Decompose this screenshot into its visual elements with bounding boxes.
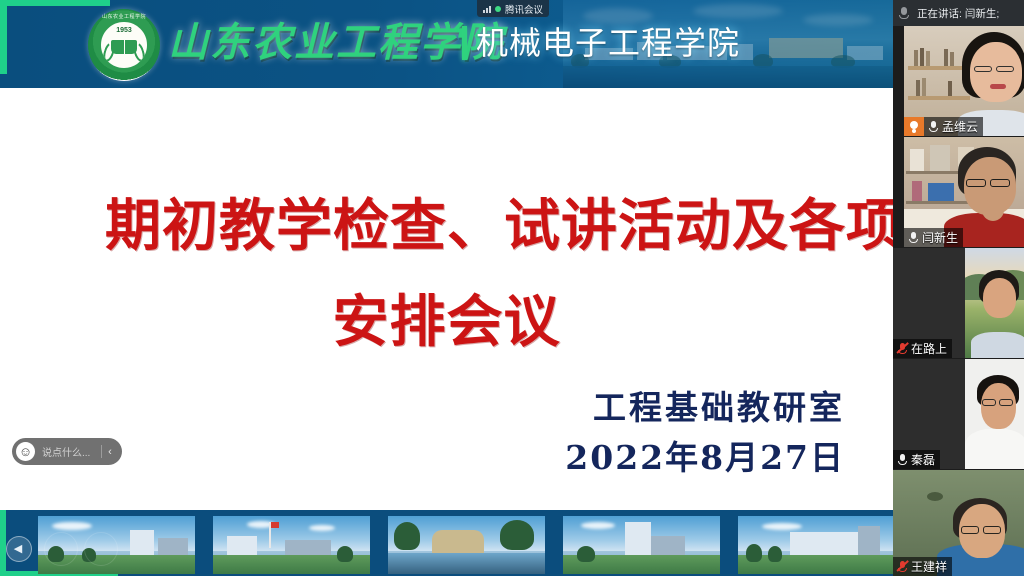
- participant-nameplate: 王建祥: [893, 557, 952, 576]
- slide-filmstrip[interactable]: ◀: [0, 510, 893, 576]
- slide-subtitle-department: 工程基础教研室: [593, 386, 845, 430]
- meeting-status-pill: 腾讯会议: [477, 0, 549, 17]
- university-seal-icon: 山东农业工程学院 1953: [88, 9, 160, 81]
- college-name: 机械电子工程学院: [476, 22, 740, 64]
- filmstrip-prev-button[interactable]: ◀: [6, 536, 32, 562]
- filmstrip-thumbnail[interactable]: [388, 516, 545, 574]
- slide-title-line2: 安排会议: [0, 274, 893, 370]
- chat-input-placeholder[interactable]: 说点什么...: [35, 444, 101, 459]
- meeting-screen: 山东农业工程学院 1953 山东农业工程学院 机械电子工程学院 期初教学检查、试…: [0, 0, 1024, 576]
- meeting-app-label: 腾讯会议: [505, 2, 543, 16]
- participant-tile[interactable]: 秦磊: [893, 359, 1024, 469]
- signal-icon: [483, 5, 491, 13]
- speaking-indicator-bar: 正在讲话: 闫新生;: [893, 0, 1024, 26]
- slide-banner: 山东农业工程学院 1953 山东农业工程学院 机械电子工程学院: [0, 0, 893, 88]
- microphone-icon: [896, 453, 908, 466]
- participant-nameplate: 孟维云: [924, 117, 983, 136]
- host-badge-icon: [904, 117, 924, 136]
- participant-name: 孟维云: [939, 118, 978, 135]
- participant-nameplate: 在路上: [893, 339, 952, 358]
- microphone-muted-icon: [896, 342, 908, 355]
- status-dot: [495, 6, 501, 12]
- shared-screen-area[interactable]: 山东农业工程学院 1953 山东农业工程学院 机械电子工程学院 期初教学检查、试…: [0, 0, 893, 576]
- participant-name: 秦磊: [908, 451, 935, 468]
- participant-tile[interactable]: 王建祥: [893, 470, 1024, 576]
- participant-tile[interactable]: 在路上: [893, 248, 1024, 358]
- filmstrip-prev-label: ◀: [14, 544, 22, 555]
- participant-sidebar[interactable]: 正在讲话: 闫新生; 孟维云: [893, 0, 1024, 576]
- chevron-left-icon[interactable]: ‹: [102, 446, 118, 458]
- filmstrip-thumbnail[interactable]: [738, 516, 893, 574]
- filmstrip-thumbnail[interactable]: [563, 516, 720, 574]
- participant-nameplate: 秦磊: [893, 450, 940, 469]
- filmstrip-thumbnail[interactable]: [213, 516, 370, 574]
- microphone-muted-icon: [896, 560, 908, 573]
- smiley-icon[interactable]: ☺: [16, 442, 35, 461]
- slide-title-line1: 期初教学检查、试讲活动及各项工作: [0, 178, 893, 274]
- microphone-icon: [907, 231, 919, 244]
- speaking-indicator-text: 正在讲话: 闫新生;: [911, 6, 999, 21]
- participant-name: 王建祥: [908, 558, 947, 575]
- slide-body: 期初教学检查、试讲活动及各项工作 安排会议 工程基础教研室 2022年8月27日: [0, 88, 893, 506]
- university-name: 山东农业工程学院: [168, 12, 504, 74]
- seal-year: 1953: [101, 27, 147, 34]
- participant-tile[interactable]: 闫新生: [904, 137, 1024, 247]
- seal-ring-top-text: 山东农业工程学院: [88, 13, 160, 20]
- participant-name: 在路上: [908, 340, 947, 357]
- microphone-icon: [927, 120, 939, 133]
- banner-divider: [462, 26, 467, 60]
- microphone-icon: [897, 6, 911, 20]
- participant-nameplate: 闫新生: [904, 228, 963, 247]
- chat-input-bar[interactable]: ☺ 说点什么... ‹: [12, 438, 122, 465]
- slide-subtitle-date: 2022年8月27日: [565, 436, 845, 480]
- banner-accent-left: [0, 0, 7, 74]
- participant-name: 闫新生: [919, 229, 958, 246]
- filmstrip-track: [38, 516, 893, 576]
- banner-accent-top: [0, 0, 110, 6]
- participant-tile[interactable]: 孟维云: [904, 26, 1024, 136]
